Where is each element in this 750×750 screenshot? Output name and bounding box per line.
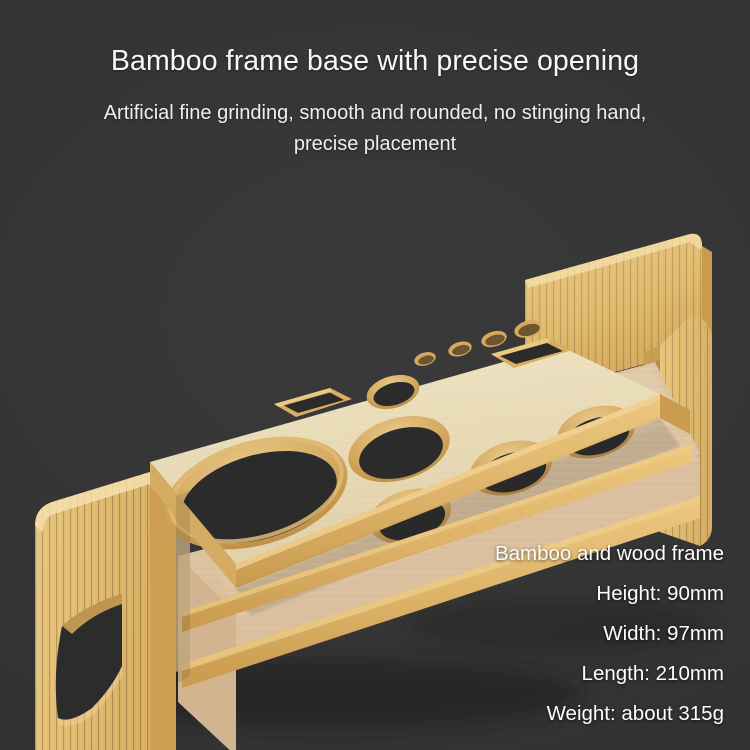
page-subtitle: Artificial fine grinding, smooth and rou… <box>0 98 750 160</box>
page-subtitle-line-1: Artificial fine grinding, smooth and rou… <box>0 98 750 129</box>
pin-hole-1 <box>413 350 438 369</box>
spec-length: Length: 210mm <box>495 654 724 694</box>
spec-list: Bamboo and wood frame Height: 90mm Width… <box>495 534 724 734</box>
spec-weight: Weight: about 315g <box>495 694 724 734</box>
spec-height: Height: 90mm <box>495 574 724 614</box>
pin-hole-2 <box>447 339 474 359</box>
left-end-panel-board <box>35 472 176 750</box>
page-subtitle-line-2: precise placement <box>0 129 750 160</box>
spec-width: Width: 97mm <box>495 614 724 654</box>
spec-material: Bamboo and wood frame <box>495 534 724 574</box>
pin-hole-3 <box>479 328 508 350</box>
left-inner-shadow <box>176 490 190 684</box>
page-title: Bamboo frame base with precise opening <box>0 44 750 78</box>
